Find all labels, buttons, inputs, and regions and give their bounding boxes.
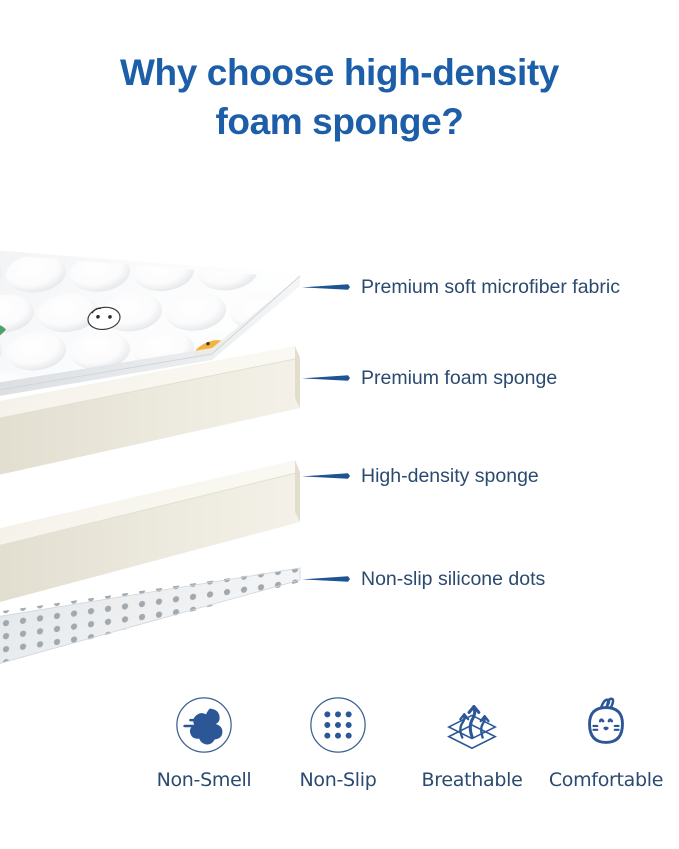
page-title: Why choose high-density foam sponge? (0, 48, 679, 146)
leader-line-icon (302, 373, 350, 383)
leader-line-icon (302, 471, 350, 481)
leader-line-icon (302, 574, 350, 584)
feature-non-slip: Non-Slip (274, 694, 402, 792)
callout-fabric: Premium soft microfiber fabric (302, 274, 620, 300)
feature-label-non-smell: Non-Smell (157, 768, 252, 792)
callout-silicone-dots: Non-slip silicone dots (302, 566, 545, 592)
page-title-line-2: foam sponge? (0, 97, 679, 146)
feature-non-smell: Non-Smell (140, 694, 268, 792)
feature-comfortable: Comfortable (542, 694, 670, 792)
leader-line-icon (302, 282, 350, 292)
callout-label-high-density: High-density sponge (361, 463, 539, 489)
airflow-layers-icon (441, 694, 503, 756)
motif-bird-yellow (0, 196, 42, 222)
dot-grid-icon (307, 694, 369, 756)
feature-row: Non-Smell Non-Slip (140, 694, 670, 792)
feature-label-non-slip: Non-Slip (299, 768, 376, 792)
motif-elephant-blue (0, 184, 80, 249)
callout-label-silicone-dots: Non-slip silicone dots (361, 566, 545, 592)
callout-label-premium-foam: Premium foam sponge (361, 365, 557, 391)
mattress-layers-illustration (0, 150, 340, 680)
feature-breathable: Breathable (408, 694, 536, 792)
callout-high-density: High-density sponge (302, 463, 539, 489)
feature-label-comfortable: Comfortable (549, 768, 663, 792)
callout-premium-foam: Premium foam sponge (302, 365, 557, 391)
callout-label-fabric: Premium soft microfiber fabric (361, 274, 620, 300)
page-title-line-1: Why choose high-density (0, 48, 679, 97)
infographic-page: Why choose high-density foam sponge? (0, 0, 679, 849)
baby-face-icon (575, 694, 637, 756)
feature-label-breathable: Breathable (422, 768, 523, 792)
odor-cloud-icon (173, 694, 235, 756)
